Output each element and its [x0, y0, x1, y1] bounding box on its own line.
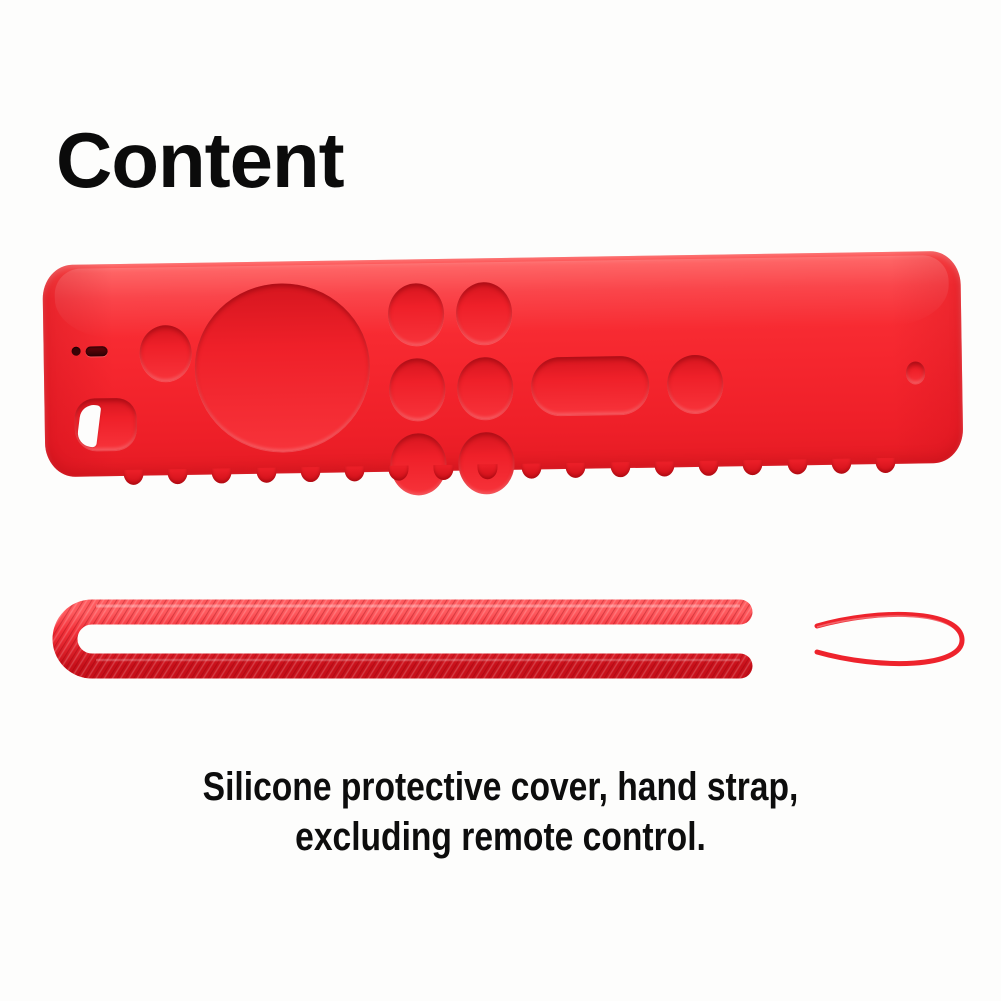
caption-line-1: Silicone protective cover, hand strap, — [80, 762, 921, 812]
silicone-remote-cover — [42, 243, 964, 502]
page-title: Content — [56, 121, 344, 199]
button-hole-r3c2 — [458, 432, 515, 495]
thin-string-loop — [817, 614, 962, 663]
caption-text: Silicone protective cover, hand strap, e… — [80, 762, 921, 862]
braided-loop-cord — [65, 606, 740, 666]
caption-line-2: excluding remote control. — [80, 812, 921, 862]
strap-attachment-hole — [906, 361, 925, 383]
product-image-canvas: Content — [0, 0, 1001, 1001]
microphone-dot-hole — [72, 347, 81, 356]
pill-slot-hole — [531, 356, 650, 416]
braided-hand-strap — [0, 548, 1001, 693]
button-hole-r3c1 — [390, 433, 447, 496]
microphone-slot-hole — [86, 346, 108, 356]
